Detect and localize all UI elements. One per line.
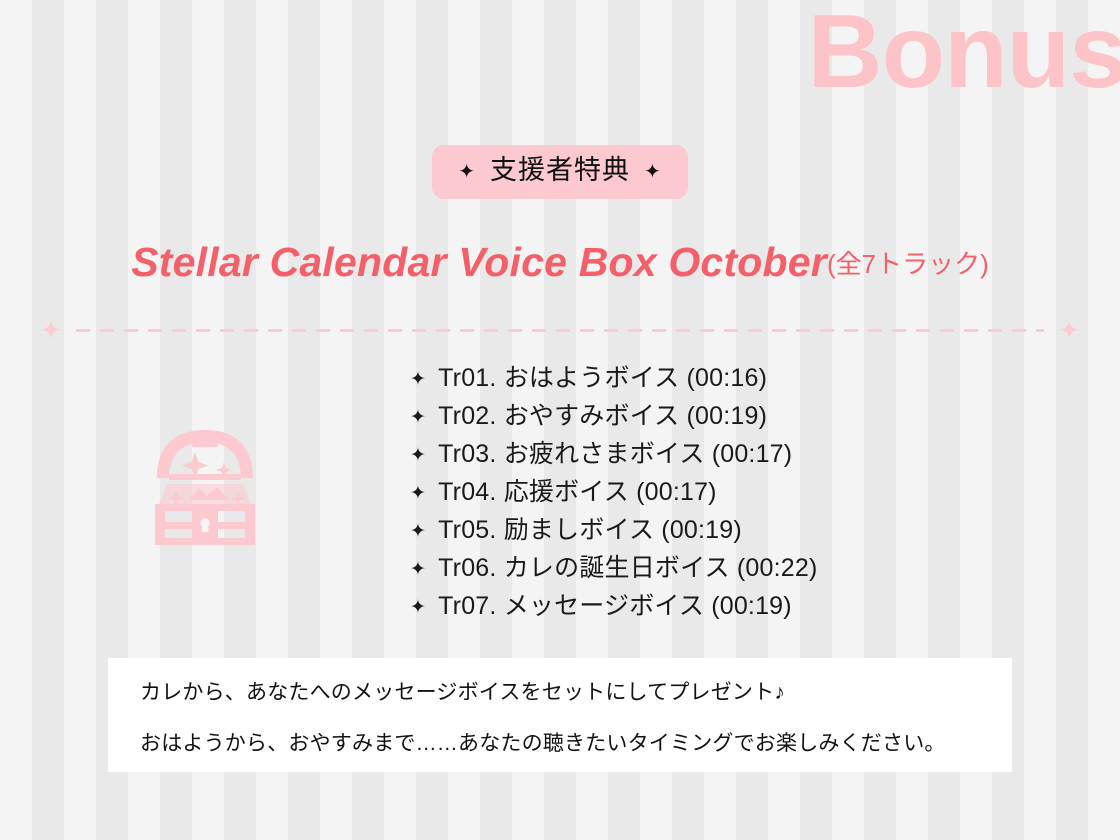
track-item: ✦ Tr06. カレの誕生日ボイス (00:22) (410, 550, 818, 588)
sparkle-icon-divider-right: ✦ (1058, 317, 1080, 343)
dashed-line (76, 329, 1044, 332)
badge-label: 支援者特典 (490, 154, 630, 188)
sparkle-bullet-icon: ✦ (410, 598, 426, 617)
sparkle-icon-divider-left: ✦ (40, 317, 62, 343)
caption-line-2: おはようから、おやすみまで……あなたの聴きたいタイミングでお楽しみください。 (140, 733, 980, 754)
content-area: ✦ Tr01. おはようボイス (00:16) ✦ Tr02. おやすみボイス … (0, 360, 1120, 626)
track-item: ✦ Tr01. おはようボイス (00:16) (410, 360, 818, 398)
page-title: Stellar Calendar Voice Box October(全7トラッ… (0, 239, 1120, 286)
title-main-text: Stellar Calendar Voice Box October (131, 239, 827, 285)
sparkle-bullet-icon: ✦ (410, 408, 426, 427)
track-item: ✦ Tr07. メッセージボイス (00:19) (410, 588, 818, 626)
sparkle-icon-right: ✦ (644, 162, 662, 182)
track-label: Tr07. メッセージボイス (00:19) (438, 594, 792, 619)
bonus-page: { "watermark": { "text": "Bonus", "color… (0, 0, 1120, 840)
sparkle-bullet-icon: ✦ (410, 484, 426, 503)
track-label: Tr02. おやすみボイス (00:19) (438, 404, 767, 429)
treasure-chest-icon (145, 418, 265, 548)
sparkle-bullet-icon: ✦ (410, 560, 426, 579)
chest-illustration-wrap (0, 360, 410, 548)
track-label: Tr04. 応援ボイス (00:17) (438, 480, 717, 505)
sparkle-bullet-icon: ✦ (410, 522, 426, 541)
caption-line-1: カレから、あなたへのメッセージボイスをセットにしてプレゼント♪ (140, 682, 980, 703)
supporter-bonus-badge: ✦ 支援者特典 ✦ (432, 145, 688, 199)
track-label: Tr05. 励ましボイス (00:19) (438, 518, 742, 543)
track-label: Tr03. お疲れさまボイス (00:17) (438, 442, 792, 467)
track-list: ✦ Tr01. おはようボイス (00:16) ✦ Tr02. おやすみボイス … (410, 360, 818, 626)
track-item: ✦ Tr03. お疲れさまボイス (00:17) (410, 436, 818, 474)
track-label: Tr06. カレの誕生日ボイス (00:22) (438, 556, 817, 581)
sparkle-bullet-icon: ✦ (410, 370, 426, 389)
track-item: ✦ Tr05. 励ましボイス (00:19) (410, 512, 818, 550)
badge-row: ✦ 支援者特典 ✦ (0, 145, 1120, 199)
track-item: ✦ Tr02. おやすみボイス (00:19) (410, 398, 818, 436)
sparkle-bullet-icon: ✦ (410, 446, 426, 465)
bonus-watermark: Bonus (807, 0, 1120, 108)
track-item: ✦ Tr04. 応援ボイス (00:17) (410, 474, 818, 512)
title-track-count: (全7トラック) (827, 249, 989, 279)
decorative-divider: ✦ ✦ (40, 310, 1080, 350)
track-label: Tr01. おはようボイス (00:16) (438, 366, 767, 391)
caption-box: カレから、あなたへのメッセージボイスをセットにしてプレゼント♪ おはようから、お… (108, 658, 1012, 772)
sparkle-icon-left: ✦ (458, 162, 476, 182)
